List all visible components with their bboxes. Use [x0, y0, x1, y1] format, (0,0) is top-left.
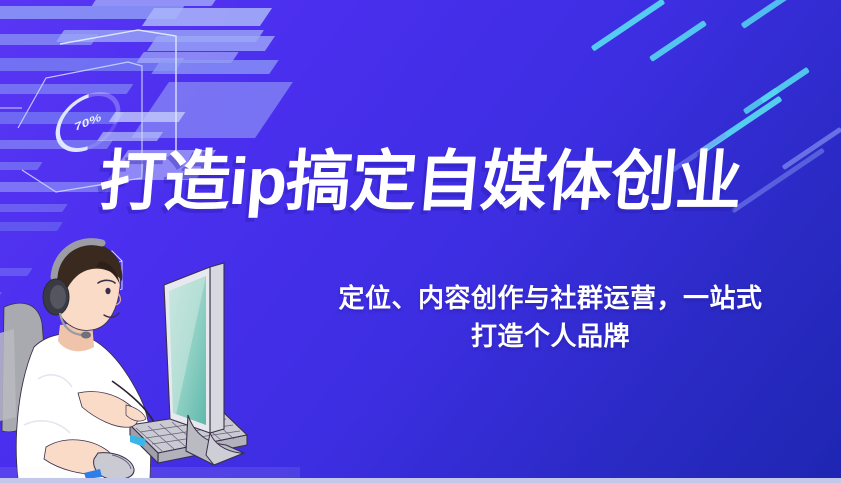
- decor-streak: [591, 0, 666, 52]
- decor-streak: [743, 87, 780, 114]
- decor-bar: [0, 34, 99, 45]
- decor-panel: [142, 8, 272, 26]
- bottom-border: [0, 478, 841, 483]
- course-promo-poster: 70% 打造ip搞定自媒体创业 定位、内容创作与社群运营，一站式 打造个人品牌: [0, 0, 841, 483]
- decor-streak: [741, 0, 796, 29]
- decor-streak: [760, 67, 810, 103]
- person-at-computer-illustration: [0, 229, 300, 479]
- decor-panel: [131, 82, 293, 138]
- poster-subtitle: 定位、内容创作与社群运营，一站式 打造个人品牌: [278, 280, 823, 355]
- decor-bar: [0, 58, 184, 71]
- poster-subtitle-line-1: 定位、内容创作与社群运营，一站式: [278, 280, 823, 318]
- decor-panel: [109, 112, 186, 122]
- decor-bar: [0, 112, 124, 124]
- decor-panel: [151, 60, 278, 74]
- decor-panel: [97, 132, 163, 141]
- decor-bar: [92, 0, 219, 6]
- poster-subtitle-line-2: 打造个人品牌: [278, 318, 823, 356]
- decor-bar: [0, 6, 184, 19]
- poster-title: 打造ip搞定自媒体创业: [0, 148, 841, 214]
- decor-bar: [56, 30, 264, 42]
- decor-panel: [147, 36, 275, 51]
- decor-bar: [0, 84, 133, 94]
- decor-bar: [136, 52, 238, 63]
- decor-streak: [649, 20, 707, 62]
